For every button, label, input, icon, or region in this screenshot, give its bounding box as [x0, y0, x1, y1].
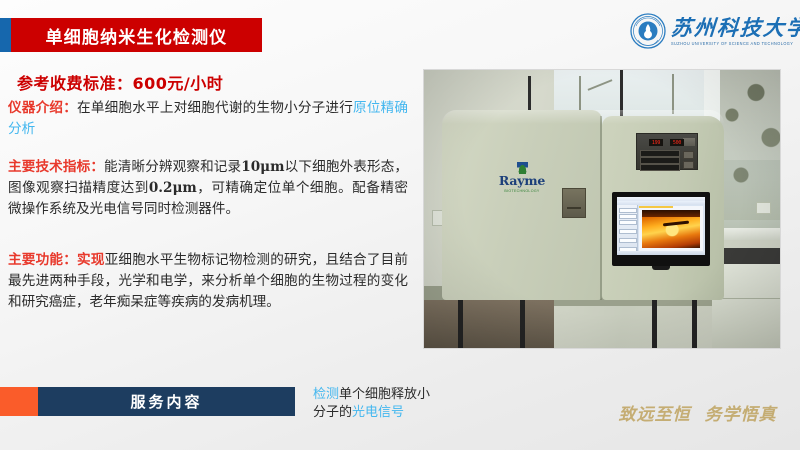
control-panel-knob[interactable] — [683, 151, 694, 159]
led-display-right: 500 — [670, 139, 684, 146]
spec-value-scan-precision: 0.2μm — [149, 180, 197, 196]
section-instrument-intro: 仪器介绍：在单细胞水平上对细胞代谢的生物小分子进行原位精确分析 — [8, 98, 408, 140]
price-line: 参考收费标准：600元/小时 — [17, 70, 223, 94]
university-name-cn: 苏州科技大学 — [670, 17, 800, 38]
page-title: 单细胞纳米生化检测仪 — [46, 23, 228, 48]
photo-branch — [672, 74, 674, 114]
university-motto: 致远至恒务学悟真 — [600, 400, 795, 425]
university-logo-text: 苏州科技大学 SUZHOU UNIVERSITY OF SCIENCE AND … — [671, 17, 800, 45]
photo-wall-outlet — [756, 202, 771, 214]
section-label-functions: 主要功能： — [8, 252, 77, 268]
instrument-control-panel: 199 500 — [636, 133, 698, 170]
section-label-intro: 仪器介绍： — [8, 100, 77, 116]
university-seal-icon — [630, 13, 666, 49]
instrument-antenna — [528, 76, 531, 112]
service-bar-accent — [0, 387, 38, 416]
instrument-leg — [458, 300, 463, 348]
instrument-brand-logo: Rayme BIOTECHNOLOGY — [490, 162, 554, 193]
motto-right: 务学悟真 — [705, 405, 777, 425]
instrument-monitor — [612, 192, 710, 266]
university-name-en: SUZHOU UNIVERSITY OF SCIENCE AND TECHNOL… — [671, 41, 800, 46]
software-active-tab[interactable] — [639, 206, 673, 209]
instrument-door-latch — [562, 188, 586, 218]
control-panel-badge — [683, 138, 695, 146]
section-body-intro: 在单细胞水平上对细胞代谢的生物小分子进行 — [77, 100, 353, 116]
photo-floor — [424, 300, 554, 348]
section-main-functions: 主要功能：实现亚细胞水平生物标记物检测的研究，且结合了目前最先进两种手段，光学和… — [8, 250, 408, 313]
service-note: 检测单个细胞释放小分子的光电信号 — [313, 386, 443, 422]
service-note-highlight-1: 检测 — [313, 387, 339, 402]
software-status-bar — [617, 251, 705, 255]
spec-value-resolution: 10μm — [241, 159, 284, 175]
instrument-top-highlight — [442, 110, 724, 124]
service-note-highlight-2: 光电信号 — [352, 405, 404, 420]
software-side-panel — [617, 205, 638, 255]
led-display-left: 199 — [649, 139, 663, 146]
instrument-leg — [692, 300, 697, 348]
instrument-leg — [520, 300, 525, 348]
heatmap-top-band — [642, 210, 700, 217]
control-panel-knob[interactable] — [683, 161, 694, 169]
monitor-stand — [652, 266, 670, 270]
page-title-banner: 单细胞纳米生化检测仪 — [11, 18, 262, 52]
control-panel-button[interactable] — [640, 157, 680, 164]
instrument-monitor-screen — [617, 197, 705, 255]
title-accent-block — [0, 18, 11, 52]
section-specs-text-1: 能清晰分辨观察和记录 — [104, 159, 241, 175]
service-bar-title: 服务内容 — [130, 391, 202, 412]
motto-left: 致远至恒 — [619, 405, 691, 425]
control-panel-button[interactable] — [640, 150, 680, 157]
university-logo: 苏州科技大学 SUZHOU UNIVERSITY OF SCIENCE AND … — [630, 8, 795, 54]
slide-root: 苏州科技大学 SUZHOU UNIVERSITY OF SCIENCE AND … — [0, 0, 800, 450]
photo-tree — [720, 70, 780, 220]
section-label-specs: 主要技术指标： — [8, 159, 104, 175]
instrument-photo: Rayme BIOTECHNOLOGY 199 500 — [424, 70, 780, 348]
section-label-functions-2: 实现 — [77, 252, 105, 268]
instrument-leg — [652, 300, 657, 348]
section-tech-specs: 主要技术指标：能清晰分辨观察和记录10μm以下细胞外表形态，图像观察扫描精度达到… — [8, 157, 408, 220]
instrument-brand-subtitle: BIOTECHNOLOGY — [490, 189, 554, 193]
service-bar: 服务内容 — [38, 387, 295, 416]
control-panel-button[interactable] — [640, 164, 680, 171]
instrument-panel-seam — [600, 116, 602, 300]
instrument-brand-name: Rayme — [490, 175, 554, 188]
